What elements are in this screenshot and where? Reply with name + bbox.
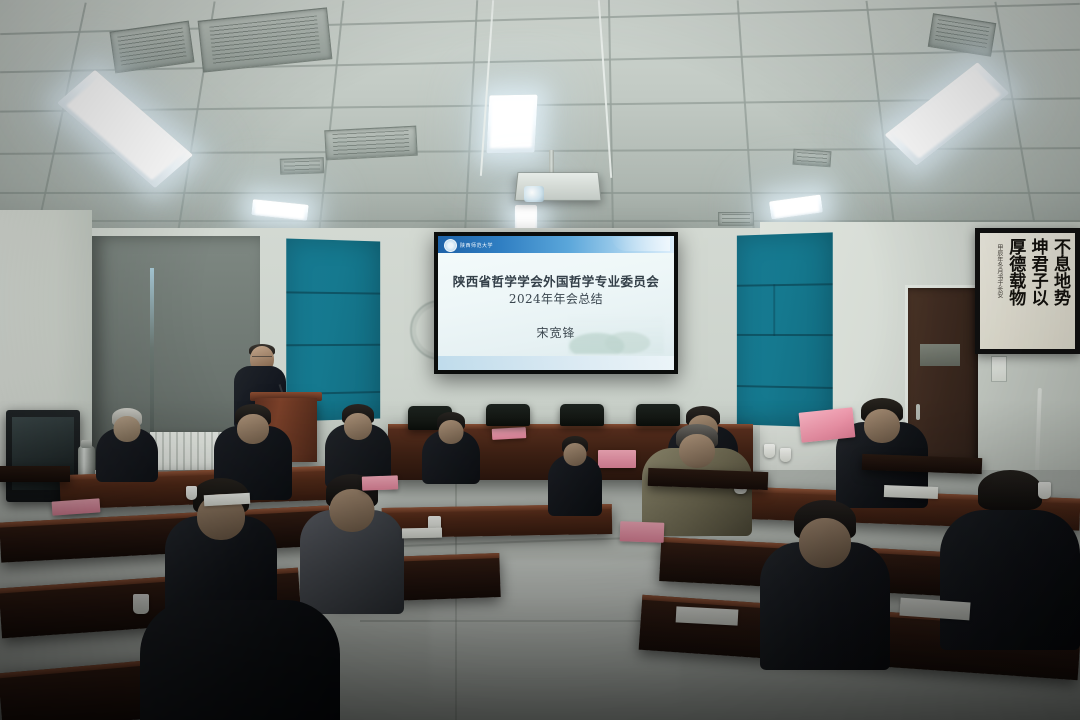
ceiling-air-vent	[792, 149, 831, 168]
ceiling-air-vent	[280, 157, 325, 175]
handout-paper	[676, 606, 739, 625]
presentation-slide: 陕西师范大学 陕西省哲学学会外国哲学专业委员会 2024年年会总结 宋宽锋	[438, 236, 674, 370]
name-placard	[492, 427, 527, 440]
calligraphy-column-1: 不息地势	[1051, 238, 1069, 344]
ceiling-air-vent	[324, 126, 417, 161]
head-table-chair[interactable]	[486, 404, 530, 426]
slide-watermark-image	[568, 314, 664, 354]
slide-university-logo: 陕西师范大学	[444, 239, 493, 252]
calligraphy-column-2: 坤君子以	[1028, 238, 1046, 344]
suspended-ceiling	[0, 0, 1080, 238]
head-table-chair[interactable]	[560, 404, 604, 426]
projector-mount-arm	[549, 150, 554, 174]
handout-paper	[402, 528, 442, 539]
paper-cup	[133, 594, 149, 614]
handout-paper	[884, 485, 938, 499]
light-switch[interactable]	[991, 356, 1007, 382]
paper-cup	[186, 486, 197, 500]
seated-attendee	[422, 412, 480, 484]
projector-lens-icon	[524, 186, 544, 202]
name-placard	[362, 475, 398, 490]
university-seal-icon	[444, 239, 457, 252]
door-window-panel	[920, 344, 960, 366]
name-placard	[598, 450, 636, 468]
paper-cup	[780, 448, 791, 462]
ceiling-air-vent	[718, 212, 754, 226]
projection-screen: 陕西师范大学 陕西省哲学学会外国哲学专业委员会 2024年年会总结 宋宽锋	[434, 232, 678, 374]
calligraphy-signature: 甲辰年冬月书于长安	[995, 244, 1002, 298]
seated-attendee	[140, 600, 340, 720]
seated-attendee	[300, 474, 404, 614]
slide-logo-text: 陕西师范大学	[460, 242, 493, 249]
framed-calligraphy: 不息地势 坤君子以 厚德载物 甲辰年冬月书于长安	[975, 228, 1080, 354]
name-placard	[620, 521, 665, 543]
seated-attendee	[548, 436, 602, 516]
paper-cup	[764, 444, 775, 458]
seated-attendee	[96, 408, 158, 482]
presenter-glasses-icon	[252, 356, 272, 362]
paper-cup	[1038, 482, 1051, 499]
ceiling-light-panel	[486, 95, 537, 154]
conference-room-photo: 院 …ity 不息地势 坤君子以 厚德载物 甲辰年冬月书于长安 陕西师范大学 陕…	[0, 0, 1080, 720]
slide-swoosh-decoration	[612, 237, 670, 251]
calligraphy-column-3: 厚德载物	[1006, 238, 1024, 344]
seated-attendee	[760, 500, 890, 670]
slide-title-line-2: 2024年年会总结	[438, 291, 674, 307]
slide-title-line-1: 陕西省哲学学会外国哲学专业委员会	[438, 272, 674, 291]
slide-footer-band	[438, 356, 674, 370]
row-bench[interactable]	[0, 466, 70, 482]
name-placard	[799, 407, 856, 442]
seated-attendee	[940, 470, 1080, 650]
acoustic-panel-right	[737, 232, 833, 427]
